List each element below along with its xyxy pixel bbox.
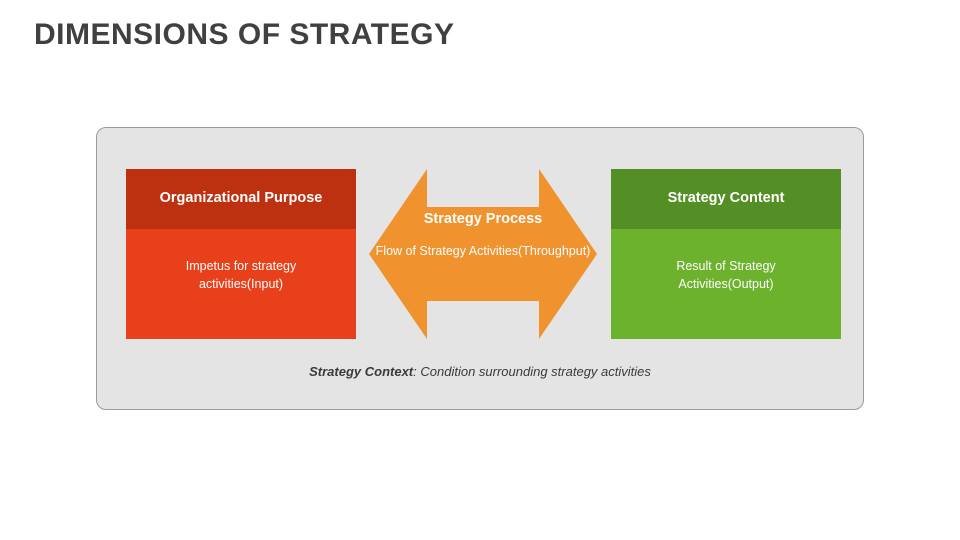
organizational-purpose-body-text: Impetus for strategy activities(Input) [151,257,331,293]
organizational-purpose-box[interactable]: Organizational Purpose Impetus for strat… [126,169,356,339]
organizational-purpose-body: Impetus for strategy activities(Input) [126,229,356,339]
double-headed-arrow-icon [369,169,597,339]
strategy-content-body-text: Result of Strategy Activities(Output) [636,257,816,293]
strategy-content-header: Strategy Content [611,169,841,229]
strategy-context-description: Condition surrounding strategy activitie… [420,364,651,379]
strategy-content-box[interactable]: Strategy Content Result of Strategy Acti… [611,169,841,339]
organizational-purpose-header: Organizational Purpose [126,169,356,229]
strategy-context-caption: Strategy Context: Condition surrounding … [97,364,863,379]
diagram-container: Organizational Purpose Impetus for strat… [96,127,864,410]
strategy-process-arrow[interactable]: Strategy Process Flow of Strategy Activi… [369,169,597,339]
page-title: DIMENSIONS OF STRATEGY [34,18,454,52]
strategy-content-body: Result of Strategy Activities(Output) [611,229,841,339]
slide-canvas: DIMENSIONS OF STRATEGY Organizational Pu… [0,0,960,540]
strategy-context-label: Strategy Context [309,364,413,379]
